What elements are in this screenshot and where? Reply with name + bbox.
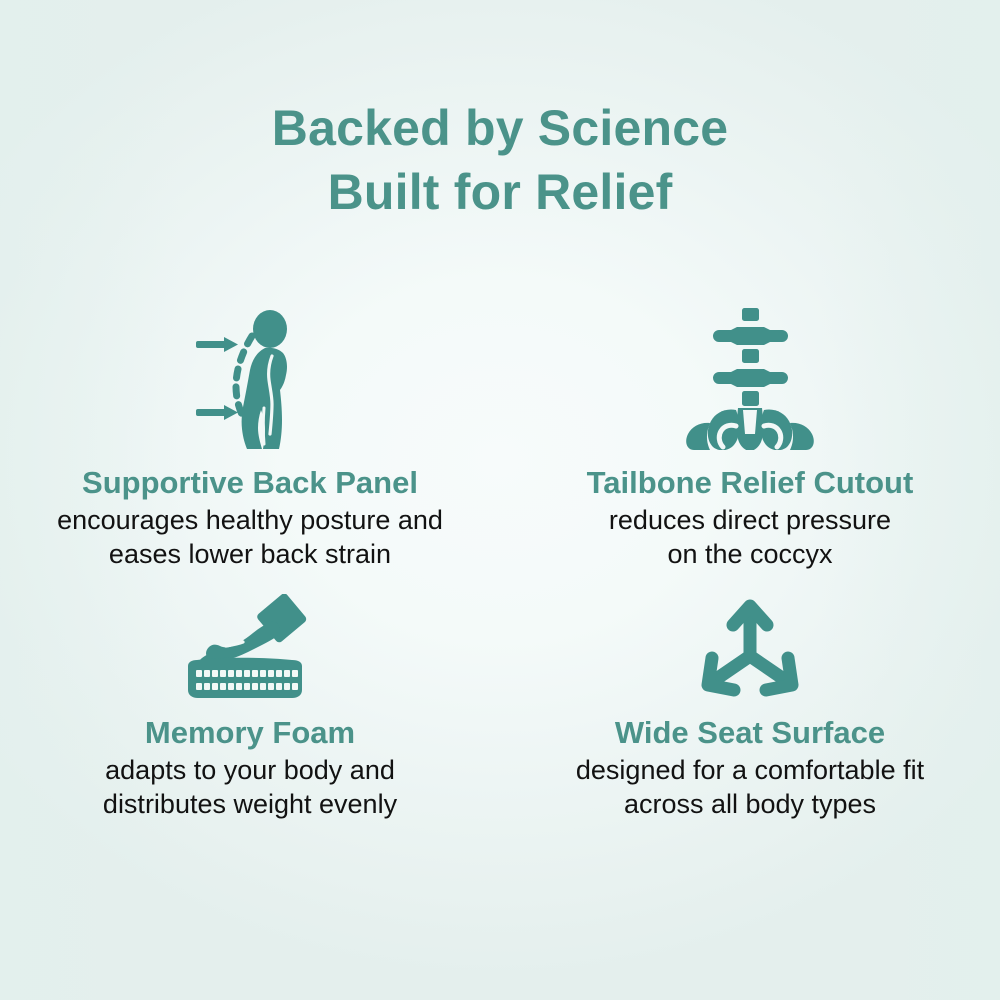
feature-icon-wrap	[500, 570, 1000, 700]
feature-description-line-2: eases lower back strain	[8, 537, 492, 571]
feature-description-line-2: on the coccyx	[508, 537, 992, 571]
feature-description: encourages healthy posture and eases low…	[0, 503, 500, 571]
feature-card-tailbone-relief-cutout: Tailbone Relief Cutout reduces direct pr…	[500, 300, 1000, 590]
feature-description-line-2: across all body types	[508, 787, 992, 821]
page-title-line-2: Built for Relief	[0, 160, 1000, 224]
feature-description: adapts to your body and distributes weig…	[0, 753, 500, 821]
feature-description: designed for a comfortable fit across al…	[500, 753, 1000, 821]
feature-title: Supportive Back Panel	[0, 464, 500, 502]
feature-description-line-1: designed for a comfortable fit	[508, 753, 992, 787]
hand-pressing-foam-icon	[174, 594, 326, 700]
pelvis-spine-icon	[680, 300, 820, 450]
posture-back-support-icon	[186, 310, 314, 450]
feature-grid: Supportive Back Panel encourages healthy…	[0, 300, 1000, 900]
feature-title: Wide Seat Surface	[500, 714, 1000, 752]
feature-description-line-1: encourages healthy posture and	[8, 503, 492, 537]
feature-description-line-1: adapts to your body and	[8, 753, 492, 787]
feature-description-line-2: distributes weight evenly	[8, 787, 492, 821]
three-way-expand-arrows-icon	[692, 594, 808, 700]
feature-title: Tailbone Relief Cutout	[500, 464, 1000, 502]
feature-description: reduces direct pressure on the coccyx	[500, 503, 1000, 571]
feature-title: Memory Foam	[0, 714, 500, 752]
feature-icon-wrap	[500, 300, 1000, 450]
feature-card-wide-seat-surface: Wide Seat Surface designed for a comfort…	[500, 570, 1000, 860]
feature-icon-wrap	[0, 570, 500, 700]
feature-icon-wrap	[0, 300, 500, 450]
feature-description-line-1: reduces direct pressure	[508, 503, 992, 537]
feature-card-memory-foam: Memory Foam adapts to your body and dist…	[0, 570, 500, 860]
feature-card-supportive-back-panel: Supportive Back Panel encourages healthy…	[0, 300, 500, 590]
infographic-poster: Backed by Science Built for Relief	[0, 0, 1000, 1000]
page-title-line-1: Backed by Science	[0, 96, 1000, 160]
page-title: Backed by Science Built for Relief	[0, 96, 1000, 224]
